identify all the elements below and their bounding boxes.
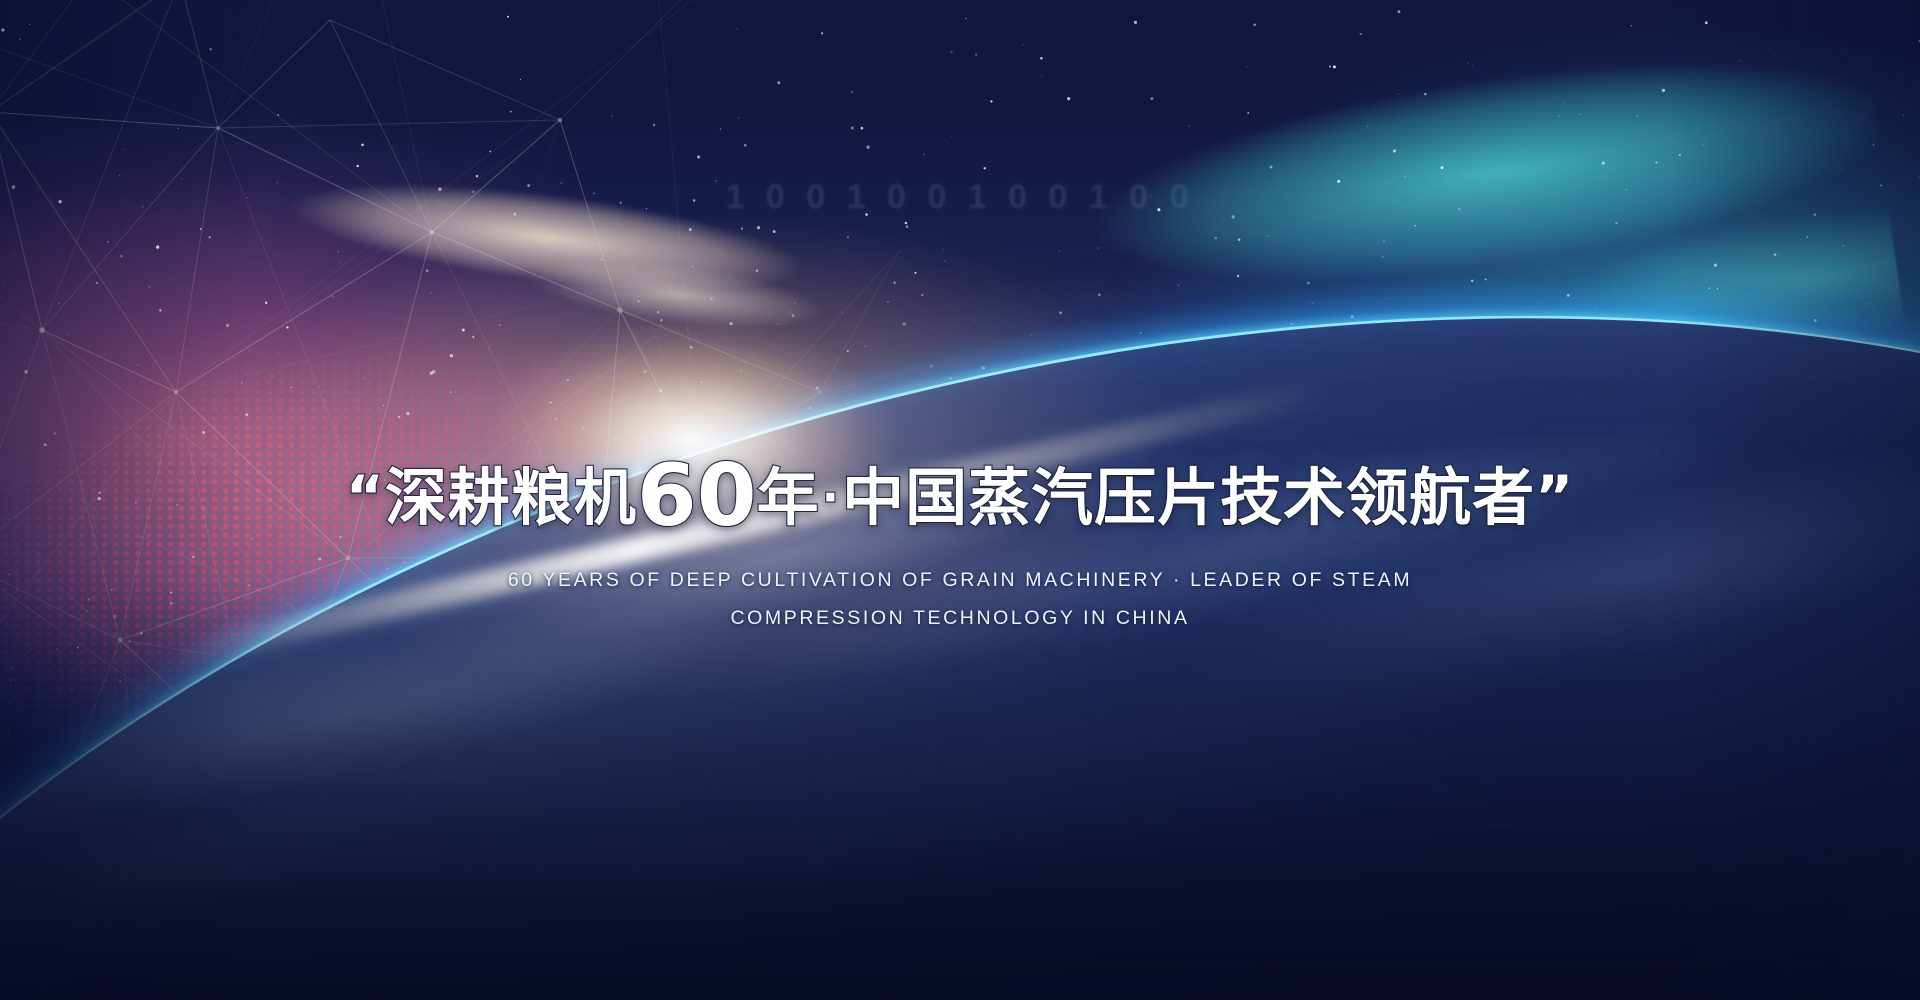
page-title: “深耕粮机60年·中国蒸汽压片技术领航者” — [0, 452, 1920, 541]
headline-prefix: 深耕粮机 — [385, 461, 637, 534]
headline-separator: · — [820, 470, 842, 524]
headline-year: 年 — [757, 461, 820, 534]
subtitle-line-1: 60 YEARS OF DEEP CULTIVATION OF GRAIN MA… — [0, 569, 1920, 592]
close-quote: ” — [1535, 463, 1574, 531]
open-quote: “ — [346, 463, 385, 531]
binary-glyph-row: 1 0 0 1 0 0 1 0 0 1 0 0 — [0, 178, 1920, 217]
headline-block: “深耕粮机60年·中国蒸汽压片技术领航者” 60 YEARS OF DEEP C… — [0, 452, 1920, 630]
headline-suffix: 中国蒸汽压片技术领航者 — [842, 461, 1535, 534]
subtitle-line-2: COMPRESSION TECHNOLOGY IN CHINA — [0, 607, 1920, 630]
headline-number: 60 — [637, 446, 757, 546]
banner-canvas: 1 0 0 1 0 0 1 0 0 1 0 0 “深耕粮机60年·中国蒸汽压片技… — [0, 0, 1920, 1000]
